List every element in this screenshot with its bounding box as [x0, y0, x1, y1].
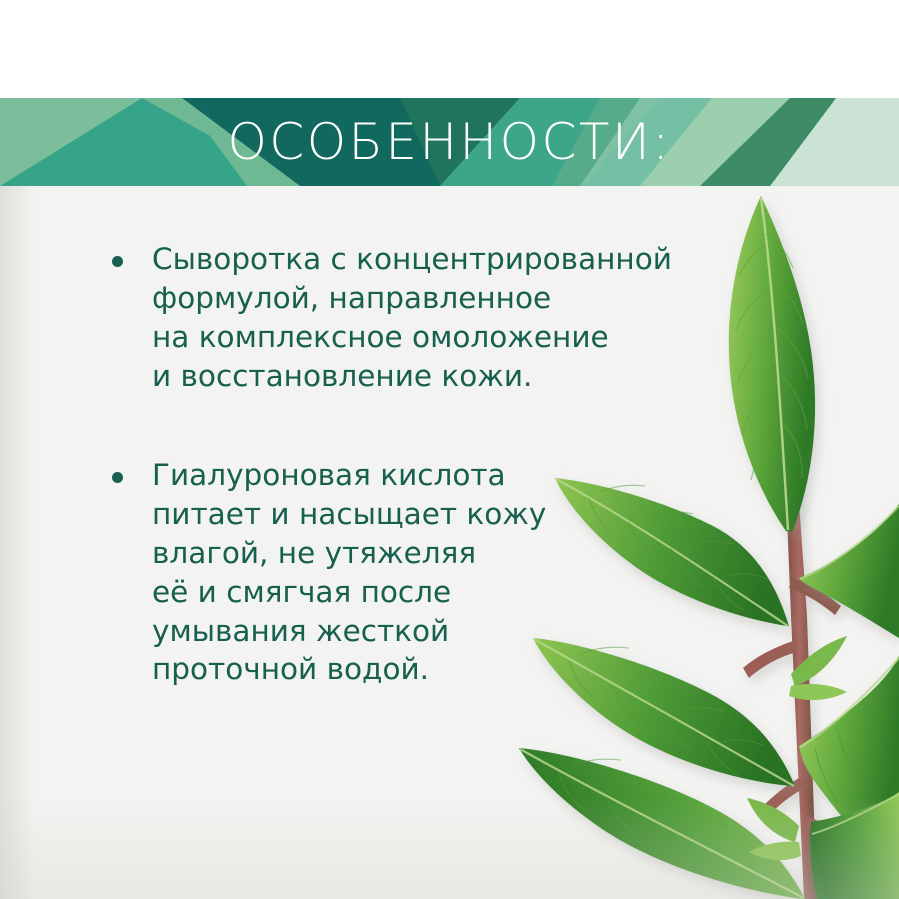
top-white-margin [0, 0, 899, 98]
header-banner [0, 98, 899, 186]
banner-geometric-pattern [0, 98, 899, 186]
list-item: Гиалуроновая кислота питает и насыщает к… [112, 456, 752, 690]
feature-text: Сыворотка с концентрированной формулой, … [152, 240, 672, 396]
feature-text: Гиалуроновая кислота питает и насыщает к… [152, 456, 546, 690]
poster-canvas: ОСОБЕННОСТИ: [0, 0, 899, 899]
bullet-dot-icon [112, 472, 123, 483]
bullet-dot-icon [112, 256, 123, 267]
features-list: Сыворотка с концентрированной формулой, … [112, 240, 752, 749]
list-item: Сыворотка с концентрированной формулой, … [112, 240, 752, 396]
